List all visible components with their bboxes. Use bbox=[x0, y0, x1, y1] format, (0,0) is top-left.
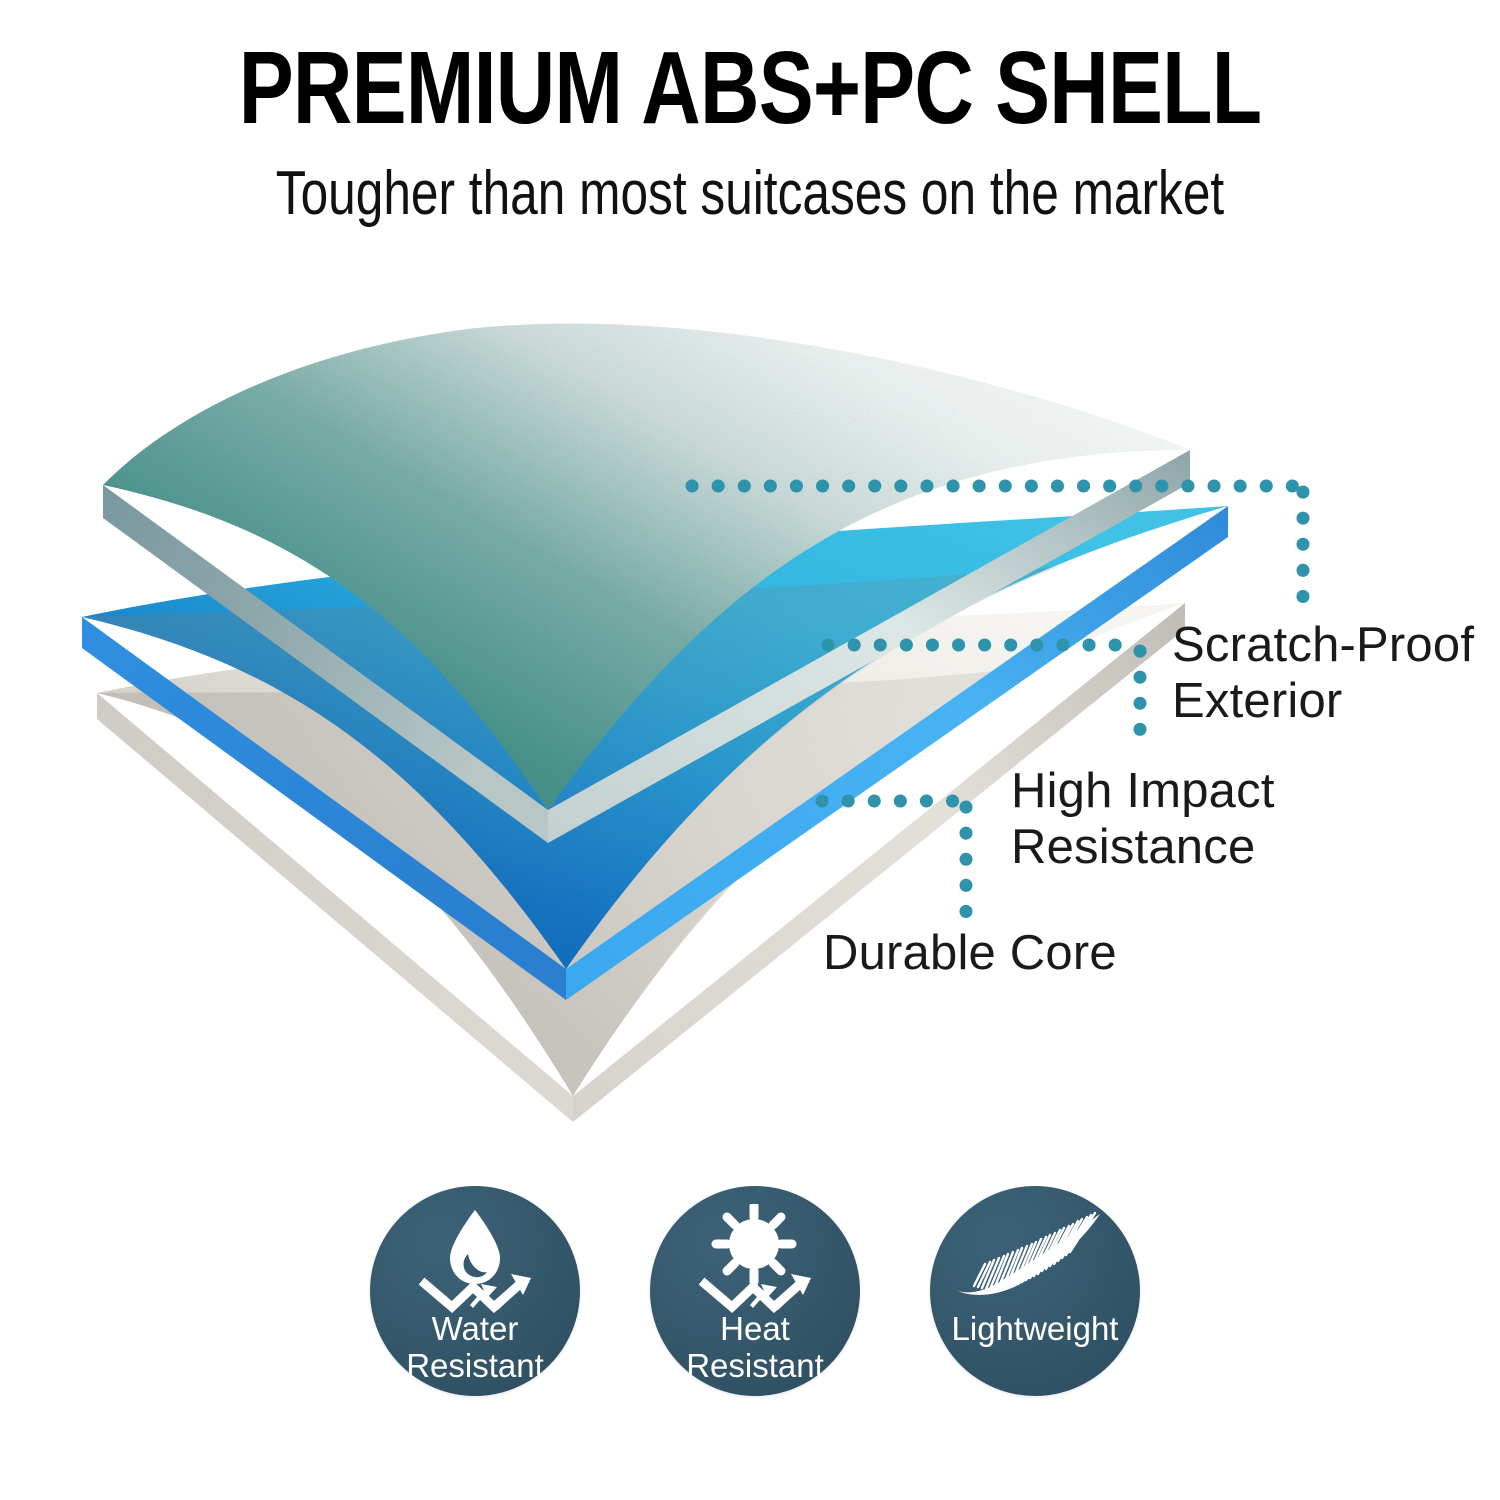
core-cast-shadow bbox=[97, 668, 1020, 1096]
badge-lightweight[interactable]: Lightweight bbox=[930, 1186, 1140, 1396]
badge-label-lightweight: Lightweight bbox=[930, 1310, 1140, 1347]
badge-water-resistant[interactable]: Water Resistant bbox=[370, 1186, 580, 1396]
water-drop-repel-icon bbox=[370, 1204, 580, 1314]
sun-repel-icon bbox=[650, 1204, 860, 1314]
infographic-canvas: PREMIUM ABS+PC SHELL Tougher than most s… bbox=[0, 0, 1500, 1500]
exterior-left-edge bbox=[103, 485, 548, 843]
exterior-top-face bbox=[103, 324, 1190, 810]
feather-icon bbox=[930, 1204, 1140, 1314]
page-subtitle: Tougher than most suitcases on the marke… bbox=[150, 162, 1350, 226]
leader-line-scratch bbox=[692, 486, 1303, 602]
page-title: PREMIUM ABS+PC SHELL bbox=[150, 36, 1350, 140]
callout-label-scratch-proof-exterior: Scratch-Proof Exterior bbox=[1172, 617, 1474, 729]
badge-label-water-resistant: Water Resistant bbox=[370, 1310, 580, 1384]
badge-heat-resistant[interactable]: Heat Resistant bbox=[650, 1186, 860, 1396]
impact-left-edge bbox=[82, 617, 566, 1000]
callout-label-high-impact-resistance: High Impact Resistance bbox=[1011, 763, 1275, 875]
header-block: PREMIUM ABS+PC SHELL Tougher than most s… bbox=[0, 36, 1500, 226]
core-left-edge bbox=[97, 693, 573, 1122]
leader-line-core bbox=[822, 801, 966, 912]
impact-top-face bbox=[82, 506, 1228, 969]
badge-label-heat-resistant: Heat Resistant bbox=[650, 1310, 860, 1384]
impact-cast-shadow bbox=[82, 566, 1060, 969]
leader-line-impact bbox=[828, 645, 1140, 748]
feature-badges-row: Water Resistant bbox=[0, 1170, 1500, 1420]
callout-label-durable-core: Durable Core bbox=[823, 925, 1117, 981]
